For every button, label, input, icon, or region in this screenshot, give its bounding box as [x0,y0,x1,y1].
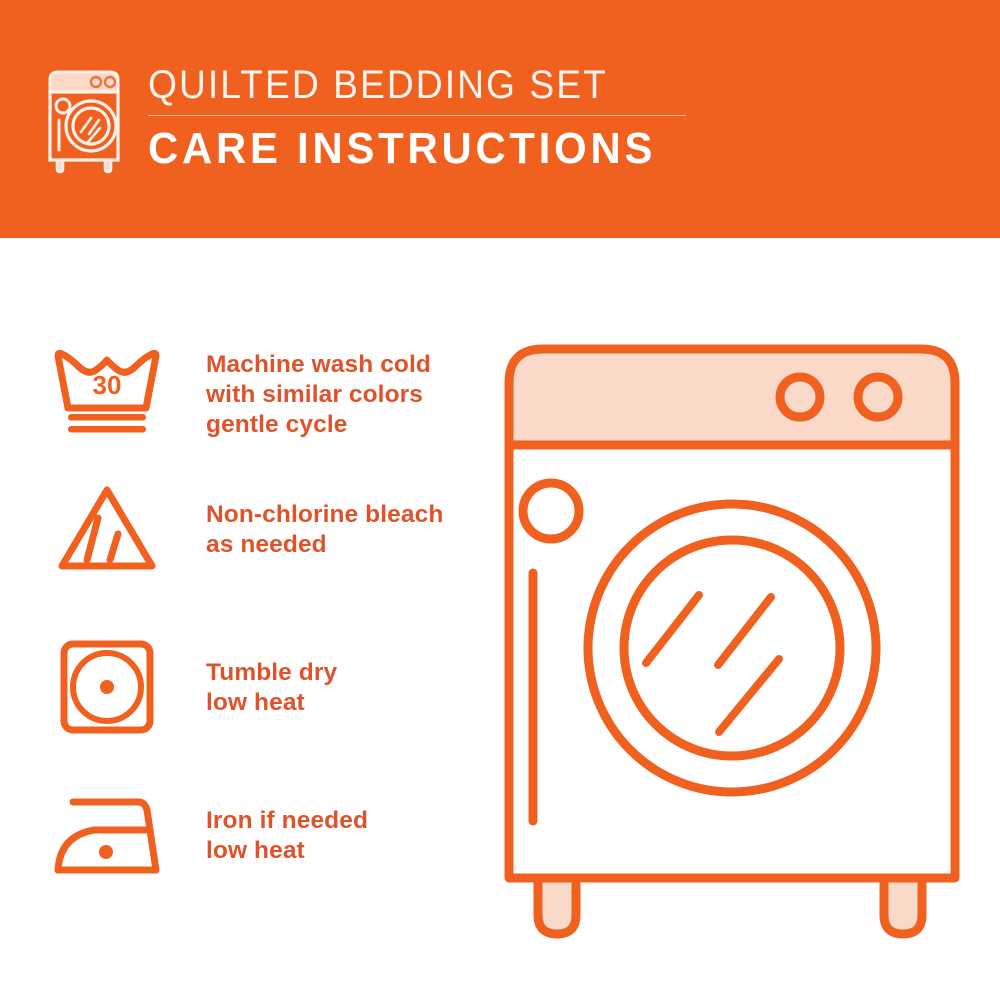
care-instructions-page: QUILTED BEDDING SET CARE INSTRUCTIONS 30 [0,0,1000,1000]
header-title-group: QUILTED BEDDING SET CARE INSTRUCTIONS [148,62,686,174]
page-title: QUILTED BEDDING SET [148,62,648,108]
indicator-button [523,483,579,539]
care-item-label: Non-chlorine bleach as needed [206,478,443,560]
care-item-bleach: Non-chlorine bleach as needed [48,478,443,578]
care-item-machine-wash: 30 Machine wash cold with similar colors… [48,338,431,440]
care-item-tumble-dry: Tumble dry low heat [48,636,337,736]
care-item-label: Tumble dry low heat [206,636,337,718]
wash-temperature-label: 30 [93,370,122,400]
washing-machine-icon [44,68,126,174]
leg-left [538,878,576,934]
machine-wash-30-gentle-icon: 30 [48,338,166,438]
care-item-iron: Iron if needed low heat [48,786,368,886]
iron-low-heat-icon [48,786,166,886]
tumble-dry-low-heat-icon [48,636,166,736]
care-item-label: Machine wash cold with similar colors ge… [206,338,431,440]
leg-right [884,878,922,934]
header-banner: QUILTED BEDDING SET CARE INSTRUCTIONS [0,0,1000,238]
door-shine-lines [646,595,779,732]
control-panel-fill [509,349,955,445]
title-divider [148,115,686,116]
page-subtitle: CARE INSTRUCTIONS [148,124,659,174]
care-item-label: Iron if needed low heat [206,786,368,866]
care-instruction-list: 30 Machine wash cold with similar colors… [0,238,470,1000]
washing-machine-illustration [480,320,980,950]
header-content: QUILTED BEDDING SET CARE INSTRUCTIONS [44,62,686,174]
non-chlorine-bleach-triangle-icon [48,478,166,578]
